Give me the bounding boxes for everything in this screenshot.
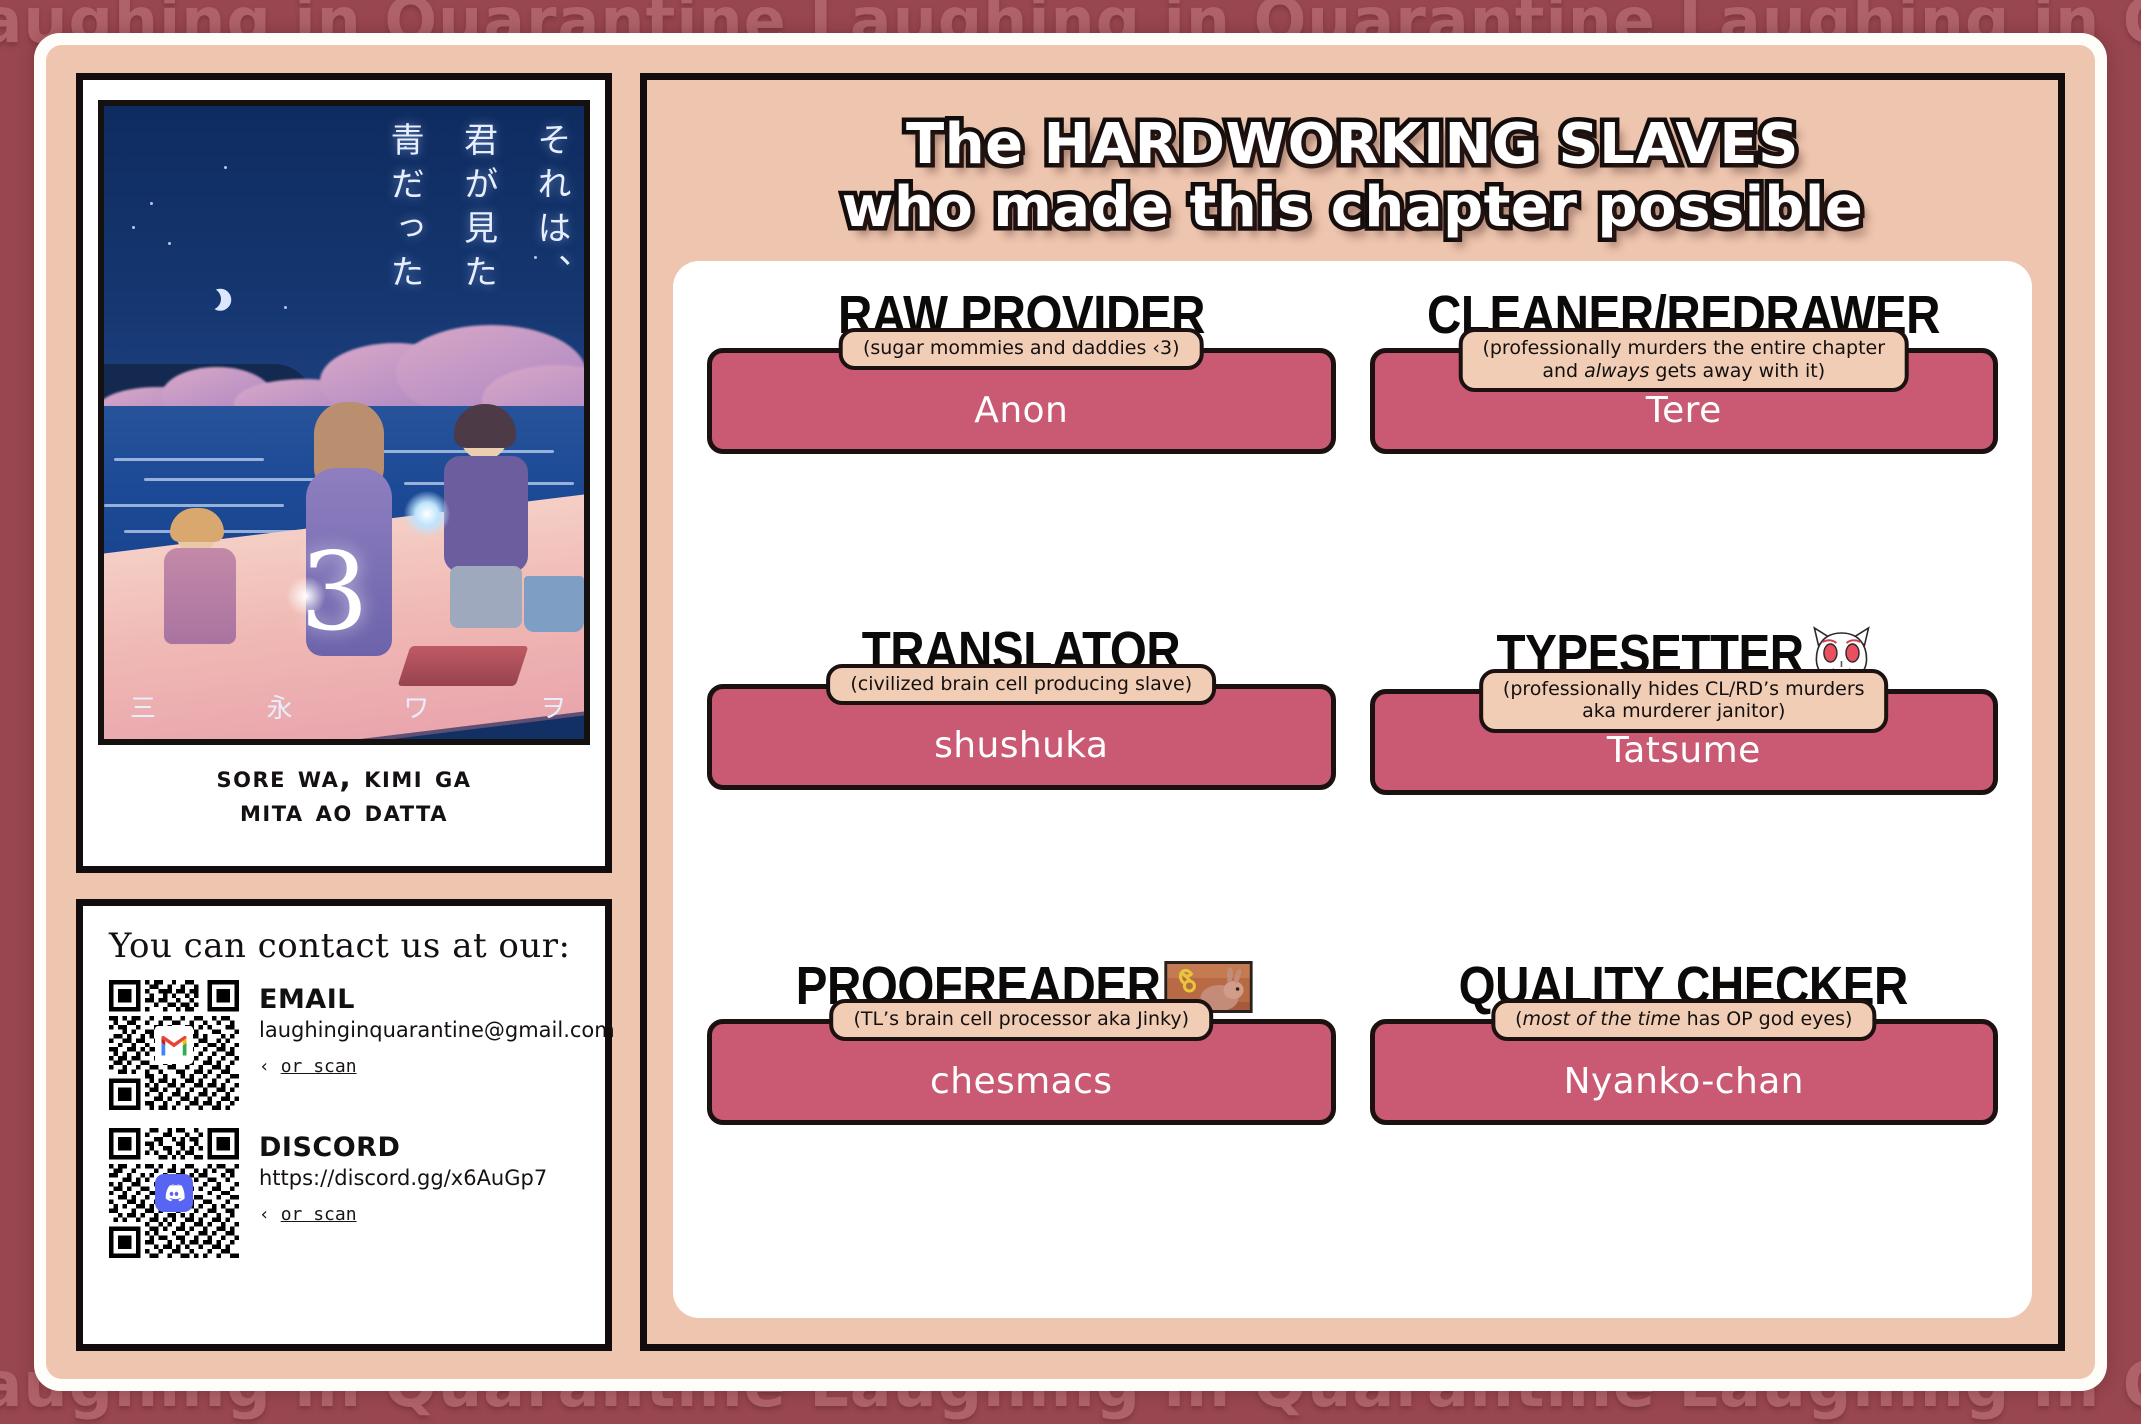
role-body-proofreader: (TL’s brain cell processor aka Jinky) ch…	[707, 1019, 1336, 1125]
role-body-quality-checker: (most of the time has OP god eyes) Nyank…	[1370, 1019, 1999, 1125]
role-body-raw-provider: (sugar mommies and daddies ‹3) Anon	[707, 348, 1336, 454]
gmail-icon	[155, 1026, 193, 1064]
contact-value-discord[interactable]: https://discord.gg/x6AuGp7	[259, 1166, 547, 1190]
jp-title-line-2: 君が見た	[457, 122, 496, 298]
role-desc-quality-checker: (most of the time has OP god eyes)	[1491, 999, 1876, 1040]
cover-kanji-3: ワ	[403, 688, 429, 725]
credits-title-line-1: The HARDWORKING SLAVES	[673, 114, 2032, 177]
role-raw-provider: RAW PROVIDER (sugar mommies and daddies …	[707, 287, 1336, 617]
cover-fireworks-box	[398, 646, 529, 686]
role-desc-cleaner-redrawer: (professionally murders the entire chapt…	[1458, 328, 1909, 392]
or-scan-label-discord: or scan	[281, 1204, 357, 1225]
discord-icon	[155, 1174, 193, 1212]
credits-card: RAW PROVIDER (sugar mommies and daddies …	[673, 261, 2032, 1318]
or-scan-hint-discord: ‹ or scan	[259, 1204, 547, 1225]
cover-romaji-line-2: Mita Ao Datta	[217, 795, 472, 829]
credits-title: The HARDWORKING SLAVES who made this cha…	[673, 114, 2032, 239]
page-inner: それは、 君が見た 青だった 3 三 永 ワ ヲ Sore wa, Kimi g…	[46, 45, 2095, 1379]
jp-title-line-3: 青だった	[384, 122, 423, 298]
contact-text-email: EMAIL laughinginquarantine@gmail.com ‹ o…	[259, 980, 615, 1110]
manga-cover-artwork: それは、 君が見た 青だった 3 三 永 ワ ヲ	[98, 100, 590, 745]
contact-value-email[interactable]: laughinginquarantine@gmail.com	[259, 1018, 615, 1042]
cover-kanji-4: ヲ	[540, 688, 566, 725]
contact-row-discord: DISCORD https://discord.gg/x6AuGp7 ‹ or …	[109, 1128, 587, 1258]
cover-kanji-1: 三	[130, 688, 156, 725]
role-desc-typesetter: (professionally hides CL/RD’s murdersaka…	[1479, 669, 1889, 733]
role-desc-translator: (civilized brain cell producing slave)	[826, 664, 1216, 705]
role-cleaner-redrawer: CLEANER/REDRAWER (professionally murders…	[1370, 287, 1999, 617]
role-body-typesetter: (professionally hides CL/RD’s murdersaka…	[1370, 689, 1999, 795]
role-body-cleaner-redrawer: (professionally murders the entire chapt…	[1370, 348, 1999, 454]
contact-label-discord: DISCORD	[259, 1132, 547, 1163]
qr-code-discord[interactable]	[109, 1128, 239, 1258]
qr-code-email[interactable]	[109, 980, 239, 1110]
credit-name-proofreader: chesmacs	[930, 1061, 1112, 1102]
role-desc-raw-provider: (sugar mommies and daddies ‹3)	[839, 328, 1204, 369]
role-translator: TRANSLATOR (civilized brain cell produci…	[707, 623, 1336, 953]
contact-row-email: EMAIL laughinginquarantine@gmail.com ‹ o…	[109, 980, 587, 1110]
role-body-translator: (civilized brain cell producing slave) s…	[707, 684, 1336, 790]
contact-label-email: EMAIL	[259, 984, 615, 1015]
role-desc-proofreader: (TL’s brain cell processor aka Jinky)	[829, 999, 1213, 1040]
cover-kanji-2: 永	[267, 688, 293, 725]
credit-name-cleaner-redrawer: Tere	[1646, 390, 1722, 431]
cover-romaji-title: Sore wa, Kimi ga Mita Ao Datta	[217, 761, 472, 828]
credit-name-translator: shushuka	[934, 725, 1108, 766]
role-proofreader: PROOFREADER	[707, 958, 1336, 1288]
role-typesetter: TYPESETTER	[1370, 623, 1999, 953]
cover-volume-number: 3	[300, 539, 369, 647]
chevron-left-icon: ‹	[259, 1056, 270, 1077]
cover-japanese-title: それは、 君が見た 青だった	[384, 122, 570, 298]
page-card: それは、 君が見た 青だった 3 三 永 ワ ヲ Sore wa, Kimi g…	[34, 33, 2107, 1391]
or-scan-hint-email: ‹ or scan	[259, 1056, 615, 1077]
credit-name-quality-checker: Nyanko-chan	[1564, 1061, 1804, 1102]
credit-name-raw-provider: Anon	[974, 390, 1068, 431]
or-scan-label-email: or scan	[281, 1056, 357, 1077]
credits-title-line-2: who made this chapter possible	[673, 177, 2032, 240]
credit-name-typesetter: Tatsume	[1607, 730, 1761, 771]
cover-bucket	[524, 576, 584, 632]
chevron-left-icon: ‹	[259, 1204, 270, 1225]
contact-block: You can contact us at our:	[76, 899, 612, 1351]
contact-heading: You can contact us at our:	[109, 926, 587, 966]
credits-panel: The HARDWORKING SLAVES who made this cha…	[640, 73, 2065, 1351]
jp-title-line-1: それは、	[531, 122, 570, 298]
contact-text-discord: DISCORD https://discord.gg/x6AuGp7 ‹ or …	[259, 1128, 547, 1258]
cover-bottom-kanji: 三 永 ワ ヲ	[130, 688, 566, 725]
left-column: それは、 君が見た 青だった 3 三 永 ワ ヲ Sore wa, Kimi g…	[76, 73, 612, 1351]
manga-cover-block: それは、 君が見た 青だった 3 三 永 ワ ヲ Sore wa, Kimi g…	[76, 73, 612, 873]
cover-figure-boy	[434, 410, 538, 656]
cover-figure-child	[162, 514, 240, 644]
cover-sparkler-glow	[404, 491, 450, 537]
role-quality-checker: QUALITY CHECKER (most of the time has OP…	[1370, 958, 1999, 1288]
cover-romaji-line-1: Sore wa, Kimi ga	[217, 761, 472, 795]
